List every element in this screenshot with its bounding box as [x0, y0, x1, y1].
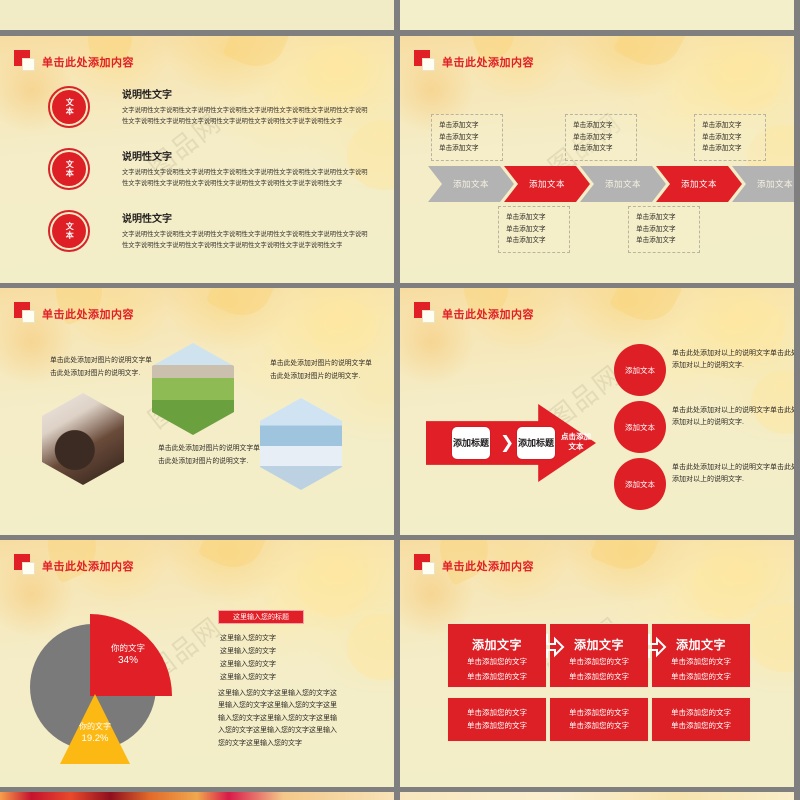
- content-box-bottom-1[interactable]: 单击添加您的文字 单击添加您的文字: [447, 697, 547, 742]
- photo-caption: 单击此处添加对图片的说明文字单击此处添加对图片的说明文字.: [50, 355, 156, 380]
- arrow-right-icon: [646, 632, 668, 660]
- slide-title-block: 单击此处添加内容: [414, 50, 534, 71]
- process-note-box[interactable]: 单击添加文字 单击添加文字 单击添加文字: [628, 206, 700, 253]
- note-line: 单击添加文字: [702, 143, 758, 155]
- slide-1[interactable]: 图品网 单击此处添加内容 文本 说明性文字 文字说明性文字说明性文字说明性文字说…: [0, 36, 394, 283]
- arrow-caption: 点击添加文本: [559, 432, 593, 452]
- process-note-box[interactable]: 单击添加文字 单击添加文字 单击添加文字: [431, 114, 503, 161]
- box-line: 单击添加您的文字: [671, 707, 731, 719]
- circle-paragraph-2: 单击此处添加对以上的说明文字单击此处添加对以上的说明文字.: [672, 405, 794, 430]
- note-line: 单击添加文字: [439, 120, 495, 132]
- note-line: 单击添加文字: [702, 132, 758, 144]
- arrow-step-label: 添加标题: [518, 438, 554, 448]
- chevron-label: 添加文本: [605, 178, 641, 190]
- chevron-step-4[interactable]: 添加文本: [656, 166, 742, 202]
- pie-label-value: 34%: [97, 655, 159, 666]
- body-paragraph: 这里输入您的文字这里输入您的文字这里输入您的文字这里输入您的文字这里输入您的文字…: [218, 688, 338, 750]
- grid-gutter-right: [794, 0, 800, 800]
- note-line: 单击添加文字: [573, 132, 629, 144]
- chevron-label: 添加文本: [529, 178, 565, 190]
- square-logo-icon: [414, 302, 435, 323]
- square-logo-icon: [414, 50, 435, 71]
- box-line: 单击添加您的文字: [569, 720, 629, 732]
- circle-badge-3[interactable]: 添加文本: [614, 458, 666, 510]
- page-title: 单击此处添加内容: [42, 310, 134, 323]
- item-body: 文字说明性文字说明性文字说明性文字说明性文字说明性文字说明性文字说明性文字说明性…: [122, 105, 370, 127]
- grid-gutter-horizontal: [0, 535, 800, 540]
- note-line: 单击添加文字: [573, 120, 629, 132]
- circle-label: 添加文本: [625, 422, 655, 433]
- box-line: 单击添加您的文字: [671, 720, 731, 732]
- item-heading: 说明性文字: [122, 86, 370, 101]
- square-logo-icon: [14, 302, 35, 323]
- slide-4[interactable]: 图品网 单击此处添加内容 添加标题 ❯ 添加标题 点击添加文本 添加文本 单击此…: [400, 288, 794, 535]
- section-header-label: 这里输入您的标题: [233, 612, 289, 622]
- circle-badge-1[interactable]: 添加文本: [614, 344, 666, 396]
- box-title: 添加文字: [448, 636, 546, 653]
- badge-circle-icon: 文本: [48, 86, 90, 128]
- circle-label: 添加文本: [625, 479, 655, 490]
- slide-2[interactable]: 图品网 单击此处添加内容 单击添加文字 单击添加文字 单击添加文字 单击添加文字…: [400, 36, 794, 283]
- box-line: 单击添加您的文字: [448, 671, 546, 683]
- arrow-step-box-2[interactable]: 添加标题: [517, 427, 555, 459]
- bullet-list: 这里输入您的文字 这里输入您的文字 这里输入您的文字 这里输入您的文字: [220, 633, 276, 685]
- slide-partial-top-right: [400, 0, 794, 30]
- slide-title-block: 单击此处添加内容: [414, 302, 534, 323]
- item-body: 文字说明性文字说明性文字说明性文字说明性文字说明性文字说明性文字说明性文字说明性…: [122, 229, 370, 251]
- badge-label: 文本: [65, 98, 73, 116]
- badge-circle-icon: 文本: [48, 210, 90, 252]
- slide-thumbnail-deck: 图品网 单击此处添加内容 文本 说明性文字 文字说明性文字说明性文字说明性文字说…: [0, 0, 800, 800]
- item-body: 文字说明性文字说明性文字说明性文字说明性文字说明性文字说明性文字说明性文字说明性…: [122, 167, 370, 189]
- box-line: 单击添加您的文字: [652, 671, 750, 683]
- page-title: 单击此处添加内容: [42, 58, 134, 71]
- note-line: 单击添加文字: [506, 235, 562, 247]
- photo-caption: 单击此处添加对图片的说明文字单击此处添加对图片的说明文字.: [158, 443, 264, 468]
- page-title: 单击此处添加内容: [442, 562, 534, 575]
- list-item[interactable]: 文本 说明性文字 文字说明性文字说明性文字说明性文字说明性文字说明性文字说明性文…: [48, 148, 370, 190]
- slide-partial-bottom-right: [400, 792, 794, 800]
- box-line: 单击添加您的文字: [448, 656, 546, 668]
- square-logo-icon: [14, 554, 35, 575]
- slide-partial-top-left: [0, 0, 394, 30]
- photo-caption: 单击此处添加对图片的说明文字单击此处添加对图片的说明文字.: [270, 358, 376, 383]
- item-heading: 说明性文字: [122, 148, 370, 163]
- process-note-box[interactable]: 单击添加文字 单击添加文字 单击添加文字: [565, 114, 637, 161]
- slide-partial-bottom-left: [0, 792, 394, 800]
- circle-label: 添加文本: [625, 365, 655, 376]
- grid-gutter-vertical: [394, 0, 400, 800]
- slide-partial-bottom: [0, 792, 800, 800]
- list-item[interactable]: 文本 说明性文字 文字说明性文字说明性文字说明性文字说明性文字说明性文字说明性文…: [48, 210, 370, 252]
- slide-title-block: 单击此处添加内容: [414, 554, 534, 575]
- page-title: 单击此处添加内容: [442, 310, 534, 323]
- bokeh-decor: [692, 555, 762, 619]
- badge-circle-icon: 文本: [48, 148, 90, 190]
- grid-gutter-horizontal: [0, 787, 800, 792]
- box-line: 单击添加您的文字: [467, 720, 527, 732]
- pie-label-value: 19.2%: [59, 733, 131, 744]
- badge-label: 文本: [65, 160, 73, 178]
- pie-chart[interactable]: 你的文字 34% 你的文字 19.2%: [22, 608, 188, 774]
- pie-label-text: 你的文字: [97, 642, 159, 654]
- circle-paragraph-3: 单击此处添加对以上的说明文字单击此处添加对以上的说明文字.: [672, 462, 794, 487]
- chevron-right-icon: ❯: [500, 433, 514, 453]
- square-logo-icon: [14, 50, 35, 71]
- content-box-top-1[interactable]: 添加文字 单击添加您的文字 单击添加您的文字: [447, 623, 547, 688]
- pie-label-yellow: 你的文字 19.2%: [59, 721, 131, 744]
- process-chevron-row: 添加文本 添加文本 添加文本 添加文本 添加文本: [428, 166, 794, 202]
- section-header-banner[interactable]: 这里输入您的标题: [218, 610, 304, 624]
- chevron-step-2[interactable]: 添加文本: [504, 166, 590, 202]
- list-item[interactable]: 文本 说明性文字 文字说明性文字说明性文字说明性文字说明性文字说明性文字说明性文…: [48, 86, 370, 128]
- list-line: 这里输入您的文字: [220, 646, 276, 659]
- chevron-label: 添加文本: [681, 178, 717, 190]
- box-line: 单击添加您的文字: [550, 671, 648, 683]
- chevron-label: 添加文本: [757, 178, 793, 190]
- slide-title-block: 单击此处添加内容: [14, 50, 134, 71]
- circle-paragraph-1: 单击此处添加对以上的说明文字单击此处添加对以上的说明文字.: [672, 348, 794, 373]
- note-line: 单击添加文字: [506, 212, 562, 224]
- arrow-right-icon: [544, 632, 566, 660]
- process-note-box[interactable]: 单击添加文字 单击添加文字 单击添加文字: [694, 114, 766, 161]
- note-line: 单击添加文字: [636, 212, 692, 224]
- page-title: 单击此处添加内容: [42, 562, 134, 575]
- pie-label-text: 你的文字: [59, 721, 131, 732]
- box-line: 单击添加您的文字: [467, 707, 527, 719]
- slide-5[interactable]: 图品网 单击此处添加内容 你的文字 34% 你的文字 19.2% 这里输入您的标…: [0, 540, 394, 787]
- process-note-box[interactable]: 单击添加文字 单击添加文字 单击添加文字: [498, 206, 570, 253]
- list-line: 这里输入您的文字: [220, 659, 276, 672]
- slide-title-block: 单击此处添加内容: [14, 554, 134, 575]
- chevron-step-1[interactable]: 添加文本: [428, 166, 514, 202]
- square-logo-icon: [414, 554, 435, 575]
- note-line: 单击添加文字: [439, 132, 495, 144]
- box-line: 单击添加您的文字: [569, 707, 629, 719]
- note-line: 单击添加文字: [506, 224, 562, 236]
- badge-label: 文本: [65, 222, 73, 240]
- grid-gutter-horizontal: [0, 30, 800, 36]
- pie-label-red: 你的文字 34%: [97, 642, 159, 666]
- content-box-bottom-2[interactable]: 单击添加您的文字 单击添加您的文字: [549, 697, 649, 742]
- circle-badge-2[interactable]: 添加文本: [614, 401, 666, 453]
- content-box-bottom-3[interactable]: 单击添加您的文字 单击添加您的文字: [651, 697, 751, 742]
- page-title: 单击此处添加内容: [442, 58, 534, 71]
- slide-title-block: 单击此处添加内容: [14, 302, 134, 323]
- arrow-step-box-1[interactable]: 添加标题: [452, 427, 490, 459]
- bokeh-decor: [715, 51, 781, 111]
- list-line: 这里输入您的文字: [220, 672, 276, 685]
- slide-3[interactable]: 图品网 单击此处添加内容 单击此处添加对图片的说明文字单击此处添加对图片的说明文…: [0, 288, 394, 535]
- note-line: 单击添加文字: [636, 224, 692, 236]
- note-line: 单击添加文字: [636, 235, 692, 247]
- note-line: 单击添加文字: [702, 120, 758, 132]
- chevron-step-3[interactable]: 添加文本: [580, 166, 666, 202]
- slide-6[interactable]: 图品网 单击此处添加内容 添加文字 单击添加您的文字 单击添加您的文字 添加文字…: [400, 540, 794, 787]
- bokeh-decor: [299, 555, 367, 617]
- chevron-label: 添加文本: [453, 178, 489, 190]
- note-line: 单击添加文字: [439, 143, 495, 155]
- arrow-step-label: 添加标题: [453, 438, 489, 448]
- grid-gutter-horizontal: [0, 283, 800, 288]
- item-heading: 说明性文字: [122, 210, 370, 225]
- list-line: 这里输入您的文字: [220, 633, 276, 646]
- note-line: 单击添加文字: [573, 143, 629, 155]
